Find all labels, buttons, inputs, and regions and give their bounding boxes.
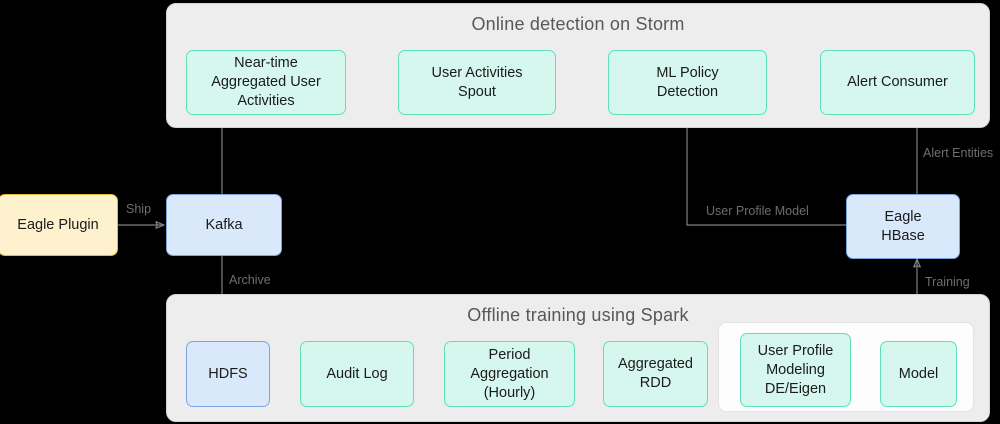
- architecture-diagram: Online detection on Storm Near-time Aggr…: [0, 0, 1000, 424]
- node-user-activities-spout[interactable]: User Activities Spout: [398, 50, 556, 115]
- node-user-profile-modeling-de-eigen[interactable]: User Profile Modeling DE/Eigen: [740, 333, 851, 407]
- node-label: User Profile Modeling DE/Eigen: [758, 342, 834, 399]
- node-label: Near-time Aggregated User Activities: [211, 54, 321, 111]
- node-label: ML Policy Detection: [656, 64, 718, 102]
- node-label: Eagle HBase: [881, 208, 925, 246]
- node-label: Audit Log: [326, 365, 387, 384]
- node-label: Alert Consumer: [847, 73, 948, 92]
- node-label: HDFS: [208, 365, 247, 384]
- edge-label-training: Training: [925, 275, 970, 289]
- edge-label-user-profile-model: User Profile Model: [706, 204, 809, 218]
- edge-label-ship: Ship: [126, 202, 151, 216]
- edge-label-archive: Archive: [229, 273, 271, 287]
- node-eagle-hbase[interactable]: Eagle HBase: [846, 194, 960, 259]
- edge-label-alert-entities: Alert Entities: [923, 146, 993, 160]
- node-eagle-plugin[interactable]: Eagle Plugin: [0, 194, 118, 256]
- node-period-aggregation-hourly[interactable]: Period Aggregation (Hourly): [444, 341, 575, 407]
- node-kafka[interactable]: Kafka: [166, 194, 282, 256]
- node-audit-log[interactable]: Audit Log: [300, 341, 414, 407]
- node-aggregated-rdd[interactable]: Aggregated RDD: [603, 341, 708, 407]
- online-detection-panel-title: Online detection on Storm: [166, 14, 990, 35]
- node-label: Period Aggregation (Hourly): [470, 346, 548, 403]
- node-label: User Activities Spout: [431, 64, 522, 102]
- node-label: Aggregated RDD: [618, 355, 693, 393]
- node-near-time-aggregated-user-activities[interactable]: Near-time Aggregated User Activities: [186, 50, 346, 115]
- node-ml-policy-detection[interactable]: ML Policy Detection: [608, 50, 767, 115]
- node-hdfs[interactable]: HDFS: [186, 341, 270, 407]
- node-label: Kafka: [205, 216, 242, 235]
- node-label: Model: [899, 365, 939, 384]
- node-alert-consumer[interactable]: Alert Consumer: [820, 50, 975, 115]
- node-label: Eagle Plugin: [17, 216, 98, 235]
- node-model[interactable]: Model: [880, 341, 957, 407]
